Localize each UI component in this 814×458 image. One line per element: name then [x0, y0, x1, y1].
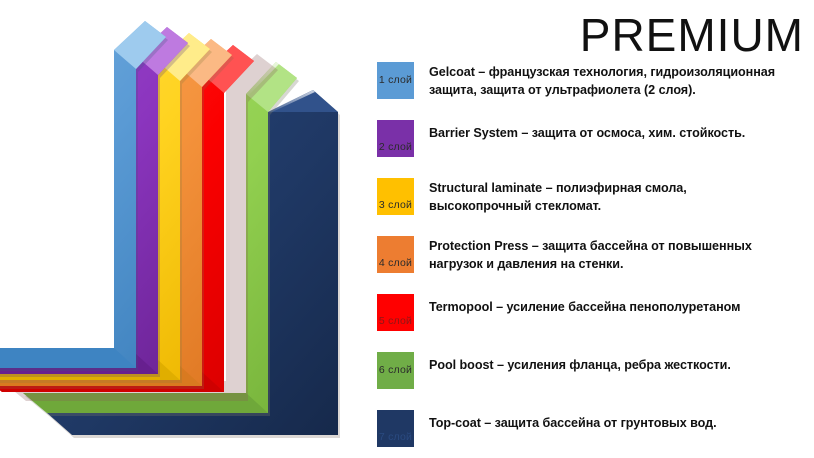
legend-text-line: нагрузок и давления на стенки. [429, 256, 814, 274]
legend-text-1: Gelcoat – французская технология, гидрои… [429, 64, 814, 99]
legend-text-line: Termopool – усиление бассейна пенополуре… [429, 299, 814, 317]
legend-item-1[interactable]: 1 слой Gelcoat – французская технология,… [377, 62, 814, 106]
legend-text-line: Structural laminate – полиэфирная смола, [429, 180, 814, 198]
layered-chevron-graphic [0, 0, 372, 458]
legend-item-5[interactable]: 5 слой Termopool – усиление бассейна пен… [377, 294, 814, 338]
legend-text-line: Barrier System – защита от осмоса, хим. … [429, 125, 814, 143]
legend-text-4: Protection Press – защита бассейна от по… [429, 238, 814, 273]
legend-text-line: Top-coat – защита бассейна от грунтовых … [429, 415, 814, 433]
legend-swatch-7: 7 слой [377, 410, 414, 447]
legend-item-3[interactable]: 3 слой Structural laminate – полиэфирная… [377, 178, 814, 222]
legend-text-line: Gelcoat – французская технология, гидрои… [429, 64, 814, 82]
legend-text-line: высокопрочный стекломат. [429, 198, 814, 216]
legend-item-7[interactable]: 7 слой Top-coat – защита бассейна от гру… [377, 410, 814, 454]
legend-swatch-3: 3 слой [377, 178, 414, 215]
legend-swatch-1: 1 слой [377, 62, 414, 99]
legend-text-line: Pool boost – усиления фланца, ребра жест… [429, 357, 814, 375]
page-title: PREMIUM [430, 8, 804, 62]
legend-text-line: Protection Press – защита бассейна от по… [429, 238, 814, 256]
legend-list: 1 слой Gelcoat – французская технология,… [377, 62, 814, 454]
legend-item-4[interactable]: 4 слой Protection Press – защита бассейн… [377, 236, 814, 280]
legend-swatch-5: 5 слой [377, 294, 414, 331]
slide-canvas: PREMIUM [0, 0, 814, 458]
chevron-layer-3 [0, 33, 212, 383]
legend-text-7: Top-coat – защита бассейна от грунтовых … [429, 415, 814, 433]
legend-text-2: Barrier System – защита от осмоса, хим. … [429, 125, 814, 143]
legend-text-3: Structural laminate – полиэфирная смола,… [429, 180, 814, 215]
legend-text-6: Pool boost – усиления фланца, ребра жест… [429, 357, 814, 375]
legend-item-2[interactable]: 2 слой Barrier System – защита от осмоса… [377, 120, 814, 164]
legend-swatch-4: 4 слой [377, 236, 414, 273]
legend-text-line: защита, защита от ультрафиолета (2 слоя)… [429, 82, 814, 100]
legend-item-6[interactable]: 6 слой Pool boost – усиления фланца, реб… [377, 352, 814, 396]
legend-swatch-2: 2 слой [377, 120, 414, 157]
legend-text-5: Termopool – усиление бассейна пенополуре… [429, 299, 814, 317]
legend-swatch-6: 6 слой [377, 352, 414, 389]
